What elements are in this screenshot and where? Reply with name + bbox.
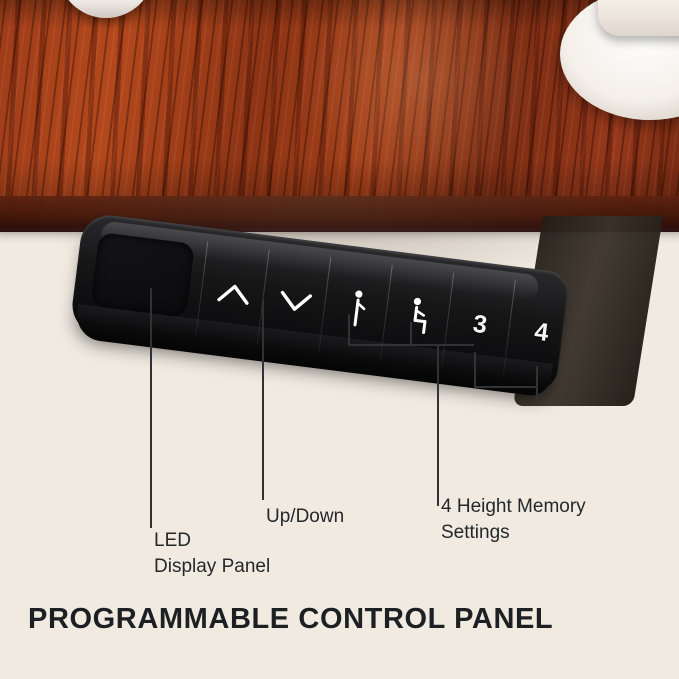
leader-bracket-top (348, 344, 474, 346)
chevron-down-icon (277, 288, 313, 314)
callout-memory: 4 Height Memory Settings (441, 494, 586, 546)
leader-line-memory-1 (348, 314, 350, 344)
leader-line-memory-2 (410, 322, 412, 346)
callout-memory-line2: Settings (441, 520, 586, 546)
desk-highlight (300, 0, 540, 206)
page-title: PROGRAMMABLE CONTROL PANEL (28, 603, 553, 636)
product-photo-scene: 3 4 LED Display Panel Up/Down 4 Height M… (0, 0, 679, 679)
callout-updown-line1: Up/Down (266, 504, 344, 530)
leader-line-memory-4 (536, 366, 538, 400)
callout-updown: Up/Down (266, 504, 344, 530)
chevron-up-icon (216, 280, 252, 306)
leader-bracket-bottom (474, 386, 536, 388)
callout-led-line1: LED (154, 528, 270, 554)
leader-line-updown (262, 300, 264, 500)
sitting-person-icon (403, 295, 434, 338)
button-memory-4[interactable]: 4 (505, 281, 579, 384)
callout-led-line2: Display Panel (154, 554, 270, 580)
button-memory-4-label: 4 (533, 317, 550, 348)
leader-line-led (150, 288, 152, 528)
button-memory-3-label: 3 (471, 309, 488, 340)
led-display-panel[interactable] (90, 232, 195, 317)
callout-memory-line1: 4 Height Memory (441, 494, 586, 520)
leader-line-memory-3 (474, 352, 476, 386)
leader-line-memory-group (437, 344, 439, 506)
callout-led: LED Display Panel (154, 528, 270, 580)
cup-right (598, 0, 679, 36)
